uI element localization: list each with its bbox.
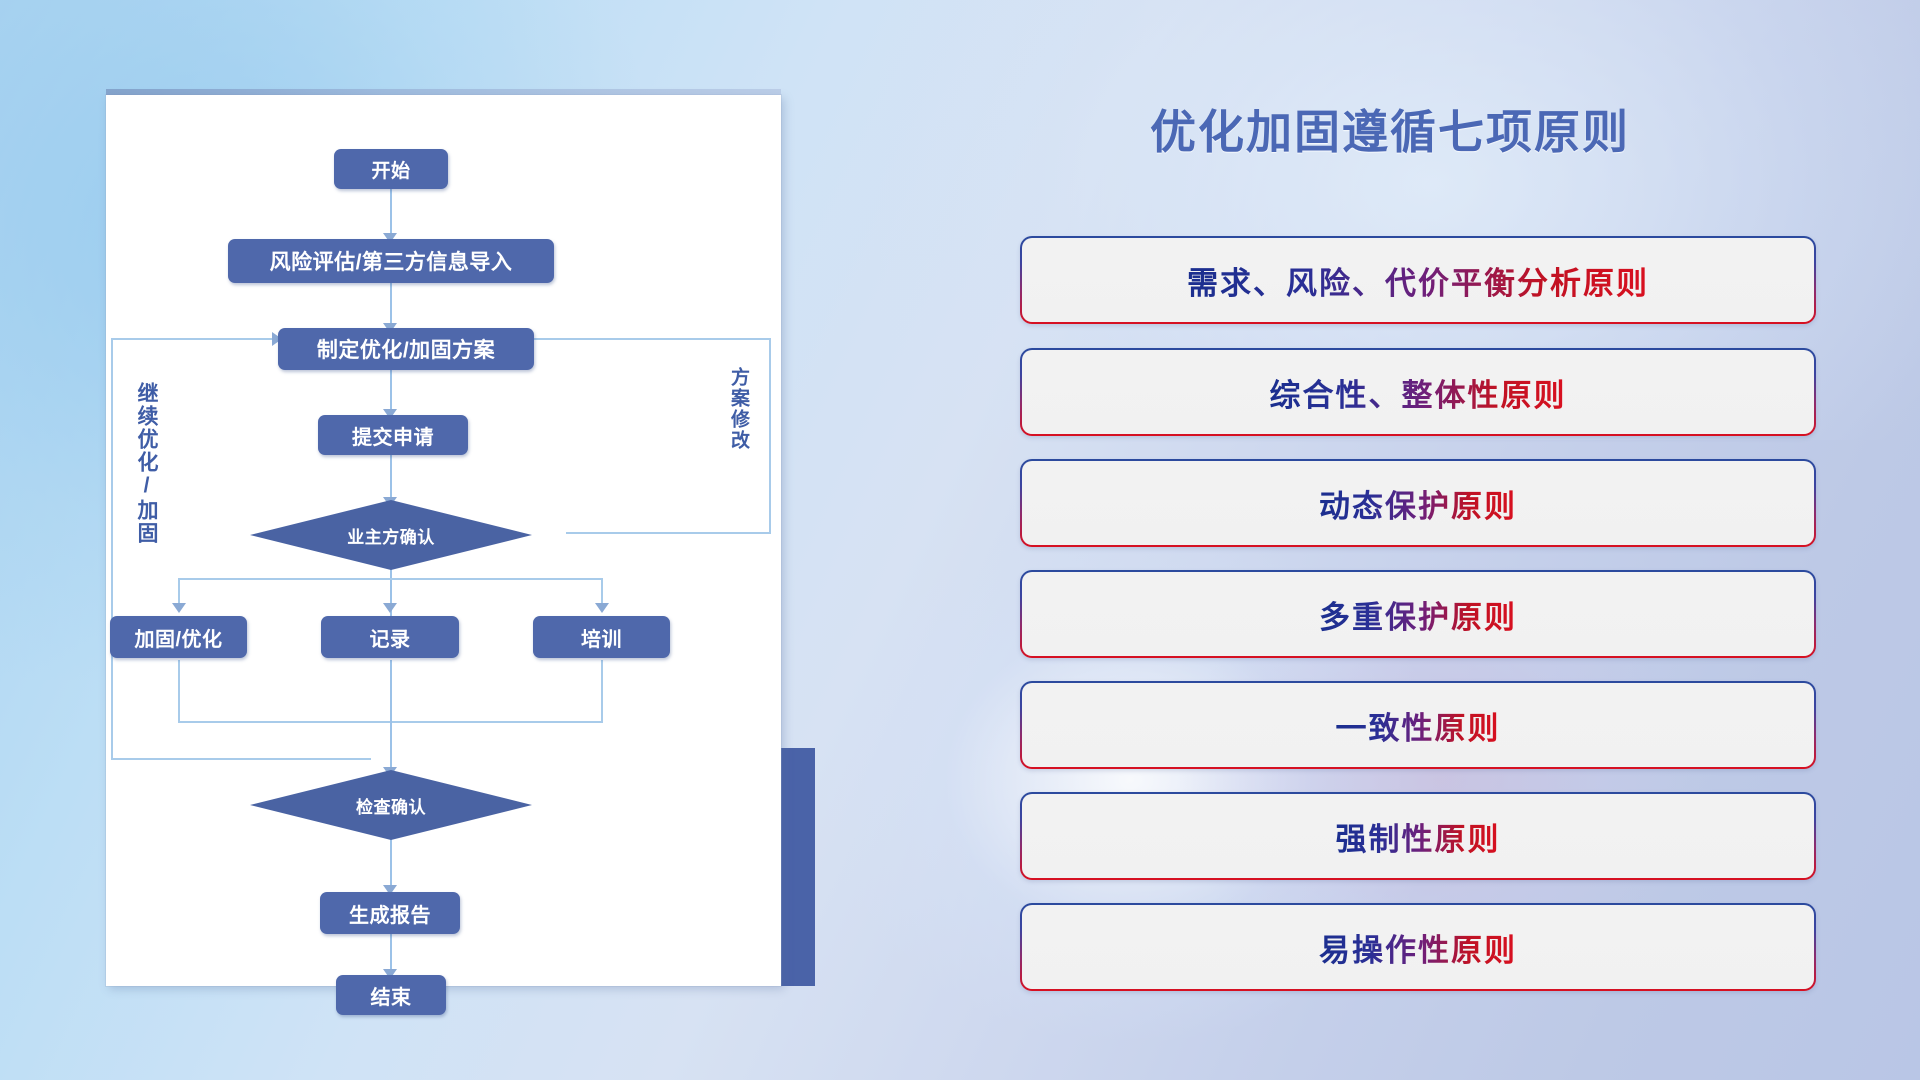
node-record[interactable]: 记录 [321,616,459,658]
node-risk-assessment[interactable]: 风险评估/第三方信息导入 [228,239,554,283]
flowchart-card: 继续优化/加固 方案修改 开始 风险评估/第三方信息导入 制定优化/加固方案 提… [106,95,781,986]
connector-left-loop-top [111,338,276,340]
principle-card-2[interactable]: 综合性、整体性原则 [1020,348,1816,436]
principles-panel: 优化加固遵循七项原则 需求、风险、代价平衡分析原则 综合性、整体性原则 动态保护… [1020,96,1850,1016]
connector-training-down [601,660,603,723]
connector-risk-to-plan [390,275,392,329]
flowchart-diagram: 继续优化/加固 方案修改 开始 风险评估/第三方信息导入 制定优化/加固方案 提… [106,95,781,986]
principle-label-7: 易操作性原则 [1319,925,1517,970]
node-submit-application[interactable]: 提交申请 [318,415,468,455]
principle-label-2: 综合性、整体性原则 [1270,370,1567,415]
connector-reinforce-down [178,660,180,723]
principle-label-1: 需求、风险、代价平衡分析原则 [1187,258,1649,303]
node-start[interactable]: 开始 [334,149,448,189]
connector-record-to-check [390,660,392,775]
connector-branch-rail-top [178,578,603,580]
connector-plan-to-submit [390,363,392,415]
connector-right-loop-vertical [769,338,771,534]
connector-right-loop-bottom [566,532,771,534]
node-end[interactable]: 结束 [336,975,446,1015]
right-loop-label: 方案修改 [728,367,748,451]
arrowhead-to-record [383,603,397,613]
owner-confirm-label: 业主方确认 [250,500,532,570]
connector-right-loop-top [514,338,771,340]
node-generate-report[interactable]: 生成报告 [320,892,460,934]
principle-label-4: 多重保护原则 [1319,592,1517,637]
node-check-confirm[interactable]: 检查确认 [250,770,532,840]
node-reinforce-optimize[interactable]: 加固/优化 [110,616,247,658]
principle-label-6: 强制性原则 [1336,814,1501,859]
connector-left-loop-bottom [111,758,371,760]
connector-submit-to-owner [390,451,392,503]
node-make-plan[interactable]: 制定优化/加固方案 [278,328,534,370]
node-owner-confirm[interactable]: 业主方确认 [250,500,532,570]
principle-card-4[interactable]: 多重保护原则 [1020,570,1816,658]
connector-left-loop-vertical [111,338,113,760]
principle-card-5[interactable]: 一致性原则 [1020,681,1816,769]
principle-label-5: 一致性原则 [1336,703,1501,748]
arrowhead-to-reinforce [172,603,186,613]
connector-owner-down [390,561,392,623]
node-training[interactable]: 培训 [533,616,670,658]
arrowhead-to-training [595,603,609,613]
page-title: 优化加固遵循七项原则 [1150,96,1630,162]
principle-card-7[interactable]: 易操作性原则 [1020,903,1816,991]
left-loop-label: 继续优化/加固 [135,382,157,545]
principle-card-1[interactable]: 需求、风险、代价平衡分析原则 [1020,236,1816,324]
principle-label-3: 动态保护原则 [1319,481,1517,526]
principle-card-3[interactable]: 动态保护原则 [1020,459,1816,547]
principle-card-6[interactable]: 强制性原则 [1020,792,1816,880]
check-confirm-label: 检查确认 [250,770,532,840]
connector-start-to-risk [390,183,392,239]
